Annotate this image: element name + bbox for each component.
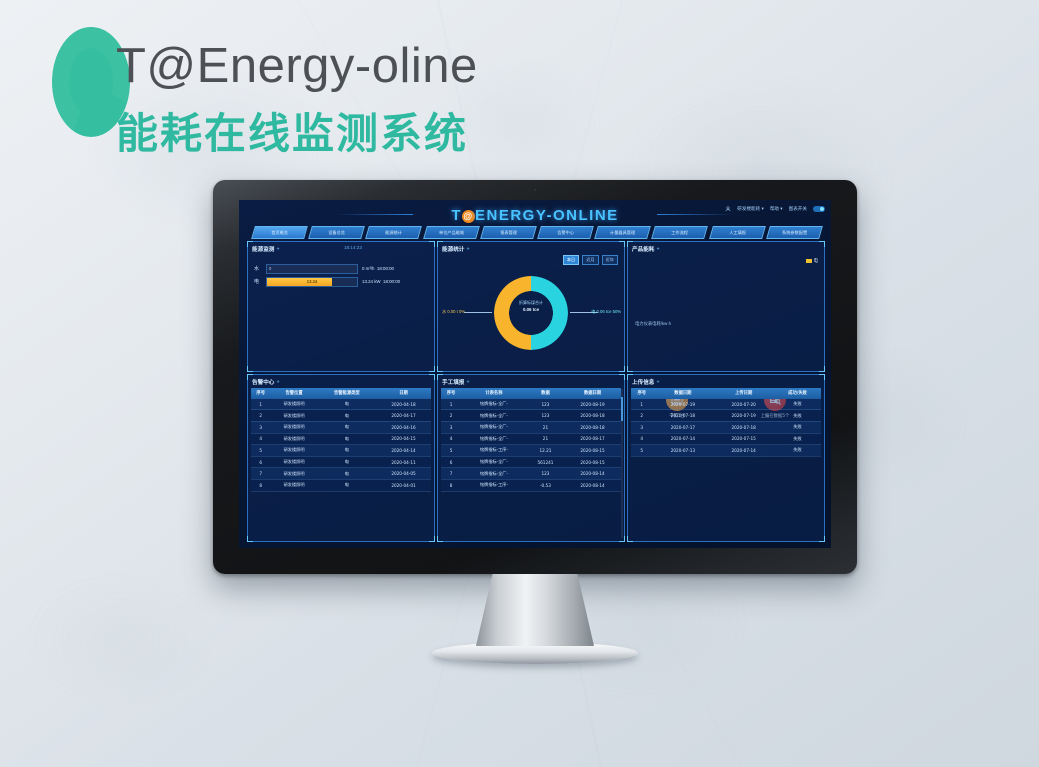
column-header-3: 日期 (376, 388, 431, 399)
table-header-row: 序号计表名称数据数据日期 (441, 388, 621, 399)
table-cell: 123 (527, 399, 564, 410)
table-cell: 3 (251, 421, 270, 433)
main-nav: 首页概览 设备总览 能源统计 单位产品能耗 报表管理 告警中心 计量器具管理 工… (253, 226, 821, 239)
table-cell: 3 (441, 421, 461, 433)
table-cell: 4 (251, 433, 270, 445)
table-row[interactable]: 6铭牌指标-全厂-5612412020-08-15 (441, 456, 621, 468)
meter-reading-electric: 13.24 kW 18:00:00 (362, 279, 428, 284)
nav-item-3[interactable]: 单位产品能耗 (423, 226, 480, 239)
table-cell: 2020-08-17 (564, 433, 621, 445)
panel-expand-icon-manual[interactable]: + (466, 379, 469, 384)
product-axis-note: 电力仪表电耗/kw·h (635, 321, 671, 327)
page-header: T@Energy-oline 能耗在线监测系统 (52, 22, 672, 152)
panel-title-product-text: 产品能耗 (632, 247, 654, 253)
table-cell: 1 (251, 399, 270, 410)
column-header-1: 计表名称 (461, 388, 527, 399)
table-cell: 2020-07-17 (652, 421, 713, 433)
nav-item-8[interactable]: 人工填报 (709, 226, 766, 239)
page-title-cn: 能耗在线监测系统 (116, 100, 468, 161)
product-legend: 电 (806, 258, 818, 264)
table-row[interactable]: 1研发楼照明电2020-04-18 (251, 399, 431, 410)
table-cell: -0.53 (527, 479, 564, 491)
table-cell: 电 (318, 468, 376, 480)
nav-item-4[interactable]: 报表管理 (480, 226, 537, 239)
column-header-0: 序号 (441, 388, 461, 399)
meter-bar-water: 0 (266, 264, 358, 274)
stats-tab-2[interactable]: 近年 (602, 255, 618, 265)
table-row[interactable]: 8铭牌指标-工序--0.532020-08-14 (441, 479, 621, 491)
monitor-mockup: T@ENERGY-ONLINE 研发楼能耗 ▾ 帮助 ▾ 图表开关 首页概览 设… (213, 180, 857, 664)
table-cell: 12.21 (527, 445, 564, 457)
table-cell: 561241 (527, 456, 564, 468)
meter-reading-water-value: 0 m³/h (362, 266, 374, 271)
table-cell: 2020-07-15 (713, 433, 774, 445)
table-cell: 2020-08-15 (564, 456, 621, 468)
table-cell: 2020-04-11 (376, 456, 431, 468)
table-cell: 铭牌指标-全厂- (461, 433, 527, 445)
table-row[interactable]: 7研发楼照明电2020-04-05 (251, 468, 431, 480)
nav-item-6[interactable]: 计量器具管理 (594, 226, 651, 239)
panel-expand-icon-upload[interactable]: + (656, 379, 659, 384)
table-cell: 2020-08-14 (564, 479, 621, 491)
legend-swatch-electric (806, 259, 812, 263)
panel-title-monitor: 能源监测+ (252, 245, 280, 253)
table-row[interactable]: 3铭牌指标-全厂-212020-08-18 (441, 421, 621, 433)
manual-scrollbar[interactable] (621, 389, 623, 538)
table-row[interactable]: 3研发楼照明电2020-04-16 (251, 421, 431, 433)
user-icon (725, 206, 731, 212)
brand-at-icon: @ (462, 210, 475, 223)
nav-label-8: 人工填报 (712, 227, 763, 238)
donut-label-left: 水 0.00 t 0% (442, 309, 465, 315)
table-cell: 2020-04-16 (376, 421, 431, 433)
table-cell: 1 (441, 399, 461, 410)
table-cell: 2020-04-05 (376, 468, 431, 480)
donut-center: 折算标煤合计 0.06 tce (505, 300, 557, 312)
table-row[interactable]: 52020-07-132020-07-14失败 (631, 445, 821, 457)
nav-label-1: 设备总览 (311, 227, 362, 238)
table-cell: 2020-08-15 (564, 445, 621, 457)
panel-title-upload: 上传信息+ (632, 378, 660, 386)
upload-table: 序号数据日期上传日期成功/失败12020-07-192020-07-20失败22… (631, 388, 821, 457)
monitor-timestamp: 18:14:23 (344, 245, 362, 250)
table-row[interactable]: 22020-07-182020-07-19失败 (631, 410, 821, 422)
table-cell: 8 (251, 479, 270, 491)
nav-item-2[interactable]: 能源统计 (366, 226, 423, 239)
table-cell: 2020-04-14 (376, 445, 431, 457)
table-row[interactable]: 5研发楼照明电2020-04-14 (251, 445, 431, 457)
monitor-bezel: T@ENERGY-ONLINE 研发楼能耗 ▾ 帮助 ▾ 图表开关 首页概览 设… (213, 180, 857, 574)
table-cell: 电 (318, 410, 376, 422)
table-cell: 21 (527, 421, 564, 433)
chart-toggle-label: 图表开关 (789, 206, 807, 212)
table-cell: 1 (631, 399, 652, 410)
table-header-row: 序号数据日期上传日期成功/失败 (631, 388, 821, 399)
panel-upload-info: 上传信息+ 干机1台 (627, 374, 825, 542)
donut-chart: 折算标煤合计 0.06 tce 水 0.00 t 0% 电 0.06 tce 5… (438, 272, 624, 360)
table-cell: 研发楼照明 (270, 433, 317, 445)
table-cell: 6 (441, 456, 461, 468)
table-row[interactable]: 4铭牌指标-全厂-212020-08-17 (441, 433, 621, 445)
table-row[interactable]: 8研发楼照明电2020-04-01 (251, 479, 431, 491)
panel-title-alarm: 告警中心+ (252, 378, 280, 386)
meter-bar-electric: 13.24 (266, 277, 358, 287)
stats-period-tabs: 本日 近月 近年 (563, 255, 618, 265)
table-cell: 研发楼照明 (270, 456, 317, 468)
donut-ring (494, 276, 568, 350)
nav-label-5: 告警中心 (540, 227, 591, 238)
column-header-0: 序号 (631, 388, 652, 399)
meter-stamp-electric: 18:00:00 (383, 279, 400, 284)
donut-center-label: 折算标煤合计 (505, 300, 557, 306)
table-cell: 2020-07-14 (713, 445, 774, 457)
table-cell: 电 (318, 479, 376, 491)
nav-item-1[interactable]: 设备总览 (308, 226, 365, 239)
table-cell: 铭牌指标-工序- (461, 479, 527, 491)
table-cell: 研发楼照明 (270, 468, 317, 480)
panel-title-alarm-text: 告警中心 (252, 380, 274, 386)
table-cell: 123 (527, 410, 564, 422)
table-cell: 2020-04-15 (376, 433, 431, 445)
table-cell: 2020-07-14 (652, 433, 713, 445)
nav-label-4: 报表管理 (483, 227, 534, 238)
table-cell: 2020-07-19 (713, 410, 774, 422)
table-row[interactable]: 2研发楼照明电2020-04-17 (251, 410, 431, 422)
panel-product-energy: 产品能耗+ 电 电力仪表电耗/kw·h (627, 241, 825, 372)
table-cell: 电 (318, 399, 376, 410)
stats-tab-1[interactable]: 近月 (582, 255, 598, 265)
table-cell: 2020-04-18 (376, 399, 431, 410)
panel-expand-icon-alarm[interactable]: + (276, 379, 279, 384)
panel-title-product: 产品能耗+ (632, 245, 660, 253)
table-row[interactable]: 12020-07-192020-07-20失败 (631, 399, 821, 410)
panel-manual-entry: 手工填报+ 序号计表名称数据数据日期1铭牌指标-全厂-1232020-08-19… (437, 374, 625, 542)
table-cell: 2020-07-18 (652, 410, 713, 422)
meter-reading-electric-value: 13.24 kW (362, 279, 381, 284)
table-cell: 5 (441, 445, 461, 457)
table-header-row: 序号告警位置告警能源类型日期 (251, 388, 431, 399)
table-cell: 铭牌指标-全厂- (461, 399, 527, 410)
nav-item-7[interactable]: 工作流程 (652, 226, 709, 239)
table-row[interactable]: 42020-07-142020-07-15失败 (631, 433, 821, 445)
user-bar: 研发楼能耗 ▾ 帮助 ▾ 图表开关 (725, 206, 825, 212)
meter-reading-water: 0 m³/h 18:00:00 (362, 266, 428, 271)
panel-title-stats-text: 能源统计 (442, 247, 464, 253)
help-link[interactable]: 帮助 ▾ (770, 206, 783, 212)
table-cell: 失败 (774, 445, 821, 457)
nav-label-7: 工作流程 (654, 227, 705, 238)
table-cell: 2 (441, 410, 461, 422)
table-cell: 铭牌指标-全厂- (461, 468, 527, 480)
nav-item-0[interactable]: 首页概览 (251, 226, 308, 239)
meter-row-water: 水 0 0 m³/h 18:00:00 (254, 264, 428, 273)
chart-toggle-switch[interactable] (813, 206, 825, 212)
table-cell: 研发楼照明 (270, 399, 317, 410)
table-cell: 4 (441, 433, 461, 445)
table-cell: 失败 (774, 410, 821, 422)
table-cell: 3 (631, 421, 652, 433)
panel-expand-icon-product[interactable]: + (656, 246, 659, 251)
table-cell: 研发楼照明 (270, 410, 317, 422)
panel-alarm-center: 告警中心+ 序号告警位置告警能源类型日期1研发楼照明电2020-04-182研发… (247, 374, 435, 542)
nav-item-9[interactable]: 系统参数配置 (766, 226, 823, 239)
meter-name-water: 水 (254, 265, 262, 272)
panel-energy-statistics: 能源统计+ 本日 近月 近年 折算标煤合计 0.06 tce 水 0.00 t (437, 241, 625, 372)
webcam-icon (533, 188, 537, 192)
column-header-0: 序号 (251, 388, 270, 399)
table-row[interactable]: 32020-07-172020-07-18失败 (631, 421, 821, 433)
table-cell: 失败 (774, 421, 821, 433)
manual-table: 序号计表名称数据数据日期1铭牌指标-全厂-1232020-08-192铭牌指标-… (441, 388, 621, 492)
table-cell: 5 (251, 445, 270, 457)
table-cell: 6 (251, 456, 270, 468)
table-cell: 2020-04-17 (376, 410, 431, 422)
table-cell: 2020-08-18 (564, 410, 621, 422)
table-cell: 2020-07-20 (713, 399, 774, 410)
column-header-2: 数据 (527, 388, 564, 399)
table-row[interactable]: 5铭牌指标-工序-12.212020-08-15 (441, 445, 621, 457)
table-cell: 7 (441, 468, 461, 480)
meter-row-electric: 电 13.24 13.24 kW 18:00:00 (254, 277, 428, 286)
meter-name-electric: 电 (254, 278, 262, 285)
donut-label-right: 电 0.06 tce 50% (591, 309, 621, 315)
panel-energy-monitor: 能源监测+ 18:14:23 水 0 0 m³/h 18:00:00 (247, 241, 435, 372)
panel-expand-icon-stats[interactable]: + (466, 246, 469, 251)
panel-expand-icon[interactable]: + (276, 246, 279, 251)
legend-label-electric: 电 (814, 258, 818, 264)
table-cell: 铭牌指标-全厂- (461, 456, 527, 468)
table-cell: 铭牌指标-工序- (461, 445, 527, 457)
monitor-stand-neck (476, 574, 594, 646)
meter-value-water: 0 (269, 265, 271, 273)
table-row[interactable]: 6研发楼照明电2020-04-11 (251, 456, 431, 468)
table-cell: 失败 (774, 433, 821, 445)
table-cell: 2020-08-19 (564, 399, 621, 410)
table-cell: 失败 (774, 399, 821, 410)
table-cell: 7 (251, 468, 270, 480)
user-name[interactable]: 研发楼能耗 ▾ (737, 206, 764, 212)
table-cell: 2 (251, 410, 270, 422)
table-cell: 5 (631, 445, 652, 457)
table-cell: 研发楼照明 (270, 479, 317, 491)
table-cell: 123 (527, 468, 564, 480)
panel-title-upload-text: 上传信息 (632, 380, 654, 386)
table-cell: 铭牌指标-全厂- (461, 410, 527, 422)
brand-prefix: T (451, 207, 462, 224)
monitor-screen: T@ENERGY-ONLINE 研发楼能耗 ▾ 帮助 ▾ 图表开关 首页概览 设… (239, 200, 831, 548)
panel-title-manual-text: 手工填报 (442, 380, 464, 386)
nav-item-5[interactable]: 告警中心 (537, 226, 594, 239)
donut-center-value: 0.06 tce (505, 307, 557, 312)
table-cell: 8 (441, 479, 461, 491)
meter-value-electric: 13.24 (267, 278, 357, 286)
column-header-3: 数据日期 (564, 388, 621, 399)
table-cell: 2020-08-14 (564, 468, 621, 480)
panel-title-monitor-text: 能源监测 (252, 247, 274, 253)
nav-label-2: 能源统计 (368, 227, 419, 238)
column-header-1: 告警位置 (270, 388, 317, 399)
table-cell: 4 (631, 433, 652, 445)
nav-label-9: 系统参数配置 (769, 227, 820, 238)
nav-label-0: 首页概览 (254, 227, 305, 238)
meter-stamp-water: 18:00:00 (377, 266, 394, 271)
stats-tab-0[interactable]: 本日 (563, 255, 579, 265)
table-row[interactable]: 1铭牌指标-全厂-1232020-08-19 (441, 399, 621, 410)
table-cell: 2020-07-13 (652, 445, 713, 457)
panel-title-manual: 手工填报+ (442, 378, 470, 386)
table-cell: 2020-04-01 (376, 479, 431, 491)
table-cell: 铭牌指标-全厂- (461, 421, 527, 433)
panel-title-stats: 能源统计+ (442, 245, 470, 253)
table-cell: 电 (318, 445, 376, 457)
table-cell: 研发楼照明 (270, 421, 317, 433)
column-header-2: 上传日期 (713, 388, 774, 399)
table-cell: 2020-07-19 (652, 399, 713, 410)
table-cell: 2020-07-18 (713, 421, 774, 433)
dashboard: T@ENERGY-ONLINE 研发楼能耗 ▾ 帮助 ▾ 图表开关 首页概览 设… (239, 200, 831, 548)
column-header-3: 成功/失败 (774, 388, 821, 399)
table-cell: 研发楼照明 (270, 445, 317, 457)
table-cell: 2020-08-18 (564, 421, 621, 433)
table-row[interactable]: 7铭牌指标-全厂-1232020-08-14 (441, 468, 621, 480)
column-header-2: 告警能源类型 (318, 388, 376, 399)
brand-suffix: ENERGY-ONLINE (475, 207, 619, 224)
page-title-en: T@Energy-oline (116, 38, 478, 94)
table-row[interactable]: 2铭牌指标-全厂-1232020-08-18 (441, 410, 621, 422)
table-row[interactable]: 4研发楼照明电2020-04-15 (251, 433, 431, 445)
table-cell: 21 (527, 433, 564, 445)
alarm-table: 序号告警位置告警能源类型日期1研发楼照明电2020-04-182研发楼照明电20… (251, 388, 431, 492)
nav-label-3: 单位产品能耗 (426, 227, 477, 238)
table-cell: 电 (318, 433, 376, 445)
table-cell: 电 (318, 456, 376, 468)
column-header-1: 数据日期 (652, 388, 713, 399)
table-cell: 电 (318, 421, 376, 433)
table-cell: 2 (631, 410, 652, 422)
nav-label-6: 计量器具管理 (597, 227, 648, 238)
